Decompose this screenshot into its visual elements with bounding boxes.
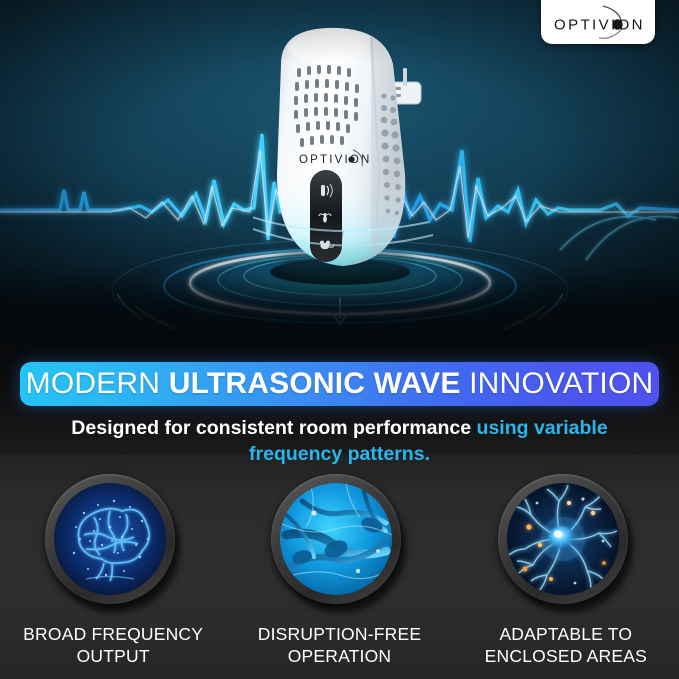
headline-part-2: ULTRASONIC WAVE: [169, 367, 461, 400]
headline-part-3: INNOVATION: [461, 367, 654, 400]
brain-network-icon: [54, 483, 166, 595]
feature-caption: ADAPTABLE TO ENCLOSED AREAS: [485, 623, 647, 667]
features-section: BROAD FREQUENCY OUTPUT: [0, 455, 679, 679]
feature-caption: BROAD FREQUENCY OUTPUT: [23, 623, 203, 667]
subtitle-line1-accent: using variable: [477, 417, 608, 439]
subtitle-text: Designed for consistent room performance…: [0, 415, 679, 467]
headline-part-1: MODERN: [26, 367, 169, 400]
hero-section: OPTIVION: [0, 0, 679, 358]
svg-text:OPTIVION: OPTIVION: [554, 17, 645, 34]
headline-text: MODERN ULTRASONIC WAVE INNOVATION: [26, 369, 654, 399]
feature-icon-ring: [271, 474, 401, 604]
feature-item: DISRUPTION-FREE OPERATION: [226, 455, 452, 679]
subtitle-line2-accent: frequency patterns.: [249, 443, 430, 465]
subtitle-line1-plain: Designed for consistent room performance: [71, 417, 476, 439]
feature-icon-ring: [45, 474, 175, 604]
brand-logo-badge: OPTIVION: [541, 0, 655, 44]
neural-synapse-icon: [280, 483, 392, 595]
feature-caption: DISRUPTION-FREE OPERATION: [258, 623, 421, 667]
neuron-cell-icon: [507, 483, 619, 595]
product-marketing-image: OPTIVION: [0, 0, 679, 679]
headline-banner: MODERN ULTRASONIC WAVE INNOVATION: [20, 362, 659, 406]
feature-icon-ring: [498, 474, 628, 604]
feature-item: ADAPTABLE TO ENCLOSED AREAS: [453, 455, 679, 679]
feature-item: BROAD FREQUENCY OUTPUT: [0, 455, 226, 679]
